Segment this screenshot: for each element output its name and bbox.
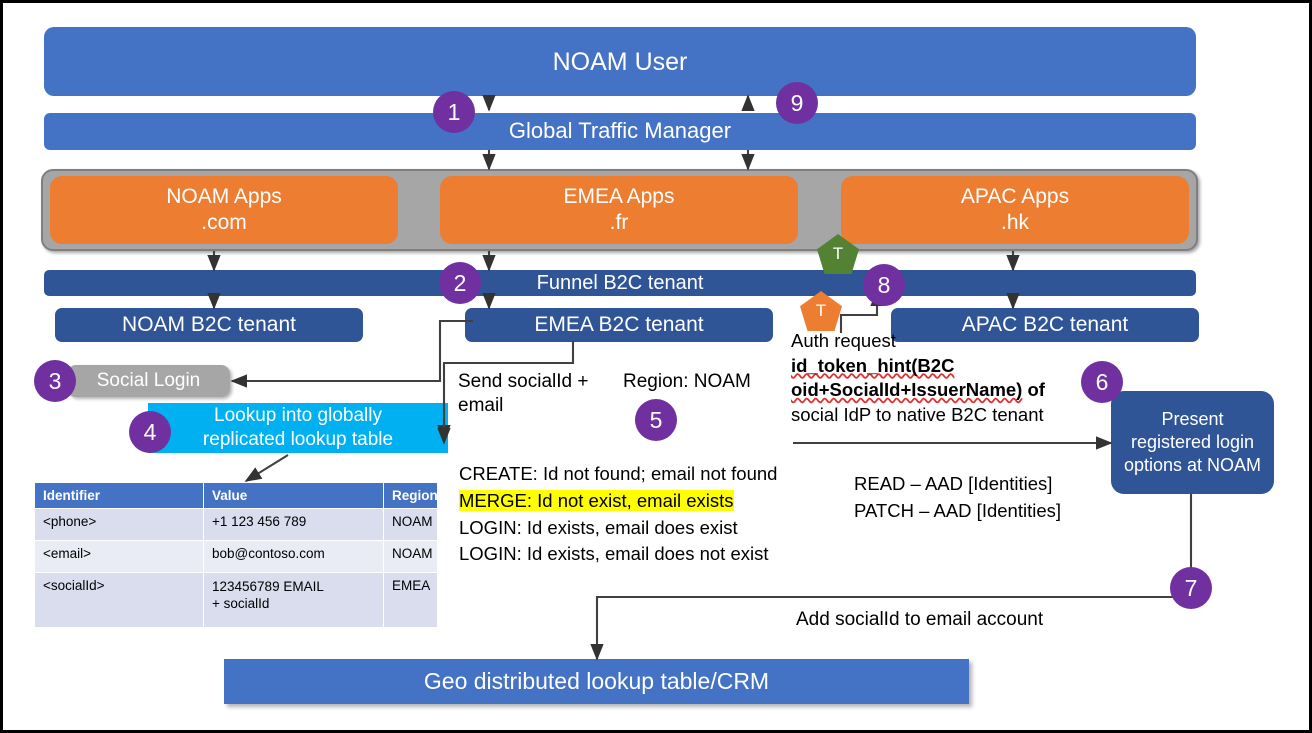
cell-value: bob@contoso.com [204, 540, 384, 572]
present-login-options-label: Present registered login options at NOAM [1124, 408, 1261, 477]
diagram-canvas: NOAM User Global Traffic Manager NOAM Ap… [0, 0, 1312, 733]
lookup-table: Identifier Value Region <phone> +1 123 4… [34, 482, 438, 628]
lookup-table-wrapper: Identifier Value Region <phone> +1 123 4… [34, 482, 438, 628]
step-badge-6-label: 6 [1096, 369, 1109, 396]
region-noam-label: Region: NOAM [623, 370, 793, 394]
token-orange-pentagon-icon: T [800, 291, 842, 331]
present-login-options-box[interactable]: Present registered login options at NOAM [1111, 391, 1274, 494]
app-card-apac[interactable]: APAC Apps .hk [841, 176, 1189, 244]
social-login-pill[interactable]: Social Login [67, 365, 230, 397]
app-card-emea[interactable]: EMEA Apps .fr [440, 176, 798, 244]
rule-merge: MERGE: Id not exist, email exists [459, 488, 849, 515]
send-socialid-email-label: Send socialId + email [458, 370, 608, 418]
auth-request-line4: social IdP to native B2C tenant [791, 403, 1091, 428]
cell-identifier: <socialId> [35, 572, 204, 627]
step-badge-5-label: 5 [650, 407, 663, 434]
rule-login-not-exists: LOGIN: Id exists, email does not exist [459, 541, 849, 568]
step-badge-9[interactable]: 9 [776, 82, 818, 124]
table-row: <email> bob@contoso.com NOAM [35, 540, 438, 572]
app-card-noam[interactable]: NOAM Apps .com [50, 176, 398, 244]
step-badge-2-label: 2 [454, 270, 467, 297]
step-badge-7[interactable]: 7 [1170, 567, 1212, 609]
app-card-apac-domain: .hk [1001, 210, 1029, 236]
noam-user-label: NOAM User [553, 48, 688, 76]
token-orange-label: T [816, 301, 826, 321]
app-card-noam-domain: .com [201, 210, 247, 236]
step-badge-1[interactable]: 1 [433, 91, 475, 133]
app-card-apac-name: APAC Apps [961, 184, 1069, 210]
step-badge-6[interactable]: 6 [1081, 361, 1123, 403]
auth-request-bold1: id_token_hint(B2C [791, 355, 954, 376]
step-badge-2[interactable]: 2 [439, 262, 481, 304]
step-badge-9-label: 9 [791, 90, 804, 117]
funnel-b2c-tenant-label: Funnel B2C tenant [537, 272, 704, 294]
graph-call-read: READ – AAD [Identities] [854, 471, 1114, 498]
rule-login-not-exists-text: LOGIN: Id exists, email does not exist [459, 543, 769, 564]
token-green-label: T [833, 244, 843, 264]
auth-request-tail: of [1022, 379, 1045, 400]
cell-region: NOAM [384, 540, 438, 572]
tenant-emea-label: EMEA B2C tenant [534, 313, 703, 337]
cell-value: +1 123 456 789 [204, 509, 384, 541]
rule-merge-text: MERGE: Id not exist, email exists [459, 490, 734, 511]
tenant-noam-label: NOAM B2C tenant [122, 313, 296, 337]
social-login-label: Social Login [97, 370, 201, 392]
cell-region: NOAM [384, 509, 438, 541]
cell-value: 123456789 EMAIL + socialId [204, 572, 384, 627]
step-badge-5[interactable]: 5 [635, 399, 677, 441]
add-socialid-label: Add socialId to email account [796, 608, 1196, 632]
table-header-region: Region [384, 483, 438, 509]
global-traffic-manager-bar[interactable]: Global Traffic Manager [44, 113, 1196, 150]
step-badge-4-label: 4 [144, 419, 157, 446]
funnel-b2c-tenant-bar[interactable]: Funnel B2C tenant [44, 270, 1196, 296]
rule-login-exists-text: LOGIN: Id exists, email does exist [459, 517, 738, 538]
cell-identifier: <email> [35, 540, 204, 572]
auth-request-text: Auth request id_token_hint(B2C oid+Socia… [791, 329, 1091, 427]
graph-calls: READ – AAD [Identities] PATCH – AAD [Ide… [854, 471, 1114, 525]
rule-login-exists: LOGIN: Id exists, email does exist [459, 515, 849, 542]
auth-request-line1: Auth request [791, 329, 1091, 354]
step-badge-8[interactable]: 8 [863, 264, 905, 306]
step-badge-3[interactable]: 3 [34, 360, 76, 402]
table-header-identifier: Identifier [35, 483, 204, 509]
table-header-row: Identifier Value Region [35, 483, 438, 509]
rule-create-text: CREATE: Id not found; email not found [459, 463, 777, 484]
table-row: <socialId> 123456789 EMAIL + socialId EM… [35, 572, 438, 627]
step-badge-8-label: 8 [878, 272, 891, 299]
graph-call-patch: PATCH – AAD [Identities] [854, 498, 1114, 525]
global-traffic-manager-label: Global Traffic Manager [509, 119, 731, 144]
noam-user-bar[interactable]: NOAM User [44, 27, 1196, 96]
lookup-box-label: Lookup into globally replicated lookup t… [203, 404, 393, 452]
geo-lookup-table-label: Geo distributed lookup table/CRM [424, 668, 769, 695]
app-card-emea-domain: .fr [610, 210, 629, 236]
tenant-emea[interactable]: EMEA B2C tenant [465, 308, 773, 342]
table-header-value: Value [204, 483, 384, 509]
cell-identifier: <phone> [35, 509, 204, 541]
auth-request-bold2: oid+SocialId+IssuerName) [791, 379, 1022, 400]
geo-lookup-table-box[interactable]: Geo distributed lookup table/CRM [224, 659, 969, 704]
step-badge-7-label: 7 [1185, 575, 1198, 602]
app-card-noam-name: NOAM Apps [166, 184, 282, 210]
step-badge-4[interactable]: 4 [129, 411, 171, 453]
rule-create: CREATE: Id not found; email not found [459, 461, 849, 488]
step-badge-3-label: 3 [49, 368, 62, 395]
lookup-box[interactable]: Lookup into globally replicated lookup t… [148, 403, 448, 453]
tenant-noam[interactable]: NOAM B2C tenant [55, 308, 363, 342]
step-badge-1-label: 1 [448, 99, 461, 126]
cell-region: EMEA [384, 572, 438, 627]
table-row: <phone> +1 123 456 789 NOAM [35, 509, 438, 541]
app-card-emea-name: EMEA Apps [564, 184, 675, 210]
rules-list: CREATE: Id not found; email not found ME… [459, 461, 849, 568]
